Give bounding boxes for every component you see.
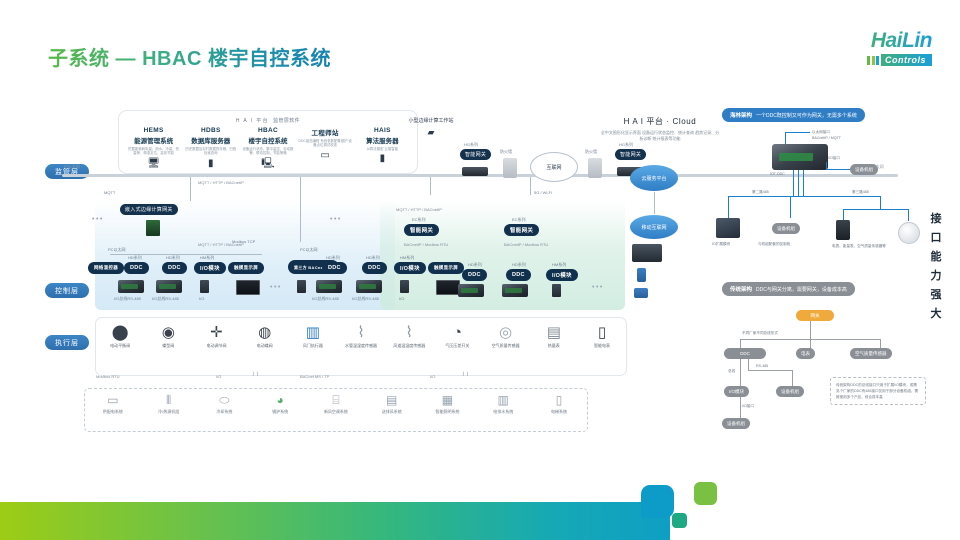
pipe-sensor-icon: ⌇ [337, 323, 385, 342]
hailin-device-label-0: IO扩展模块 [712, 242, 730, 247]
decor-square-green [694, 482, 717, 505]
diagram-canvas: 监管层 控制层 执行层 H A I 平台 监管层软件 HEMS 能源管理系统 挖… [0, 92, 960, 452]
server-icon: ▮ [184, 159, 238, 169]
execution-item[interactable]: ▯ 智能电表 [578, 323, 626, 349]
supervision-item[interactable]: HBAC 楼宇自控系统 设备运行状态、集中监控、自动报警、联动控制、节能策略 🖳 [241, 127, 295, 169]
hailin-io-port-label: I/O接口 [828, 156, 840, 161]
rs485-label-3: I/O总线RS-485 [312, 296, 339, 302]
execution-protocol-2: BACnet MS / TP [300, 374, 329, 379]
hailin-device-label-2: 电表、能量表、空气质量传感器等 [832, 244, 886, 249]
ddc-series-6: HD系列 [512, 262, 526, 268]
io-hardware-icon-1 [200, 280, 209, 293]
cloud-platform-title: H A I 平台 · Cloud 全中文图形化显示界面 设备运行状态监控、统计查… [600, 116, 720, 141]
connector [803, 170, 804, 197]
execution-item[interactable]: ⌇ 风道温湿度传感器 [385, 323, 433, 349]
hai-platform-label: H A I 平台 [236, 117, 269, 124]
system-item[interactable]: ▯ 电梯系统 [535, 393, 583, 415]
execution-protocol-0: Modbus RTU [96, 374, 120, 379]
hailin-device-label-1: 与机组配套的控制柜 [758, 242, 790, 247]
traditional-edge-label-0: 总线 [728, 369, 735, 374]
wireless-label: 5G / Wi-Fi [534, 190, 552, 195]
ddc-hardware-icon-4 [356, 280, 382, 293]
pc-bus-label-1: PC以太网 [108, 247, 126, 253]
brand-logo: HaiLin Controls [824, 30, 932, 72]
traditional-edge-label-2: I/O接口 [742, 404, 754, 409]
supervision-item[interactable]: HDBS 数据库服务器 历史数据及实时数据的存储、归档检索查询 ▮ [184, 127, 238, 169]
decor-square-teal [672, 513, 687, 528]
touch-display-pill-2[interactable]: 触摸显示屏 [428, 262, 464, 274]
ddc-series-5: HD系列 [468, 262, 482, 268]
lighting-icon: ▦ [423, 393, 471, 408]
ellipsis: ••• [92, 216, 104, 223]
ddc-hardware-icon-2 [156, 280, 182, 293]
supervision-item-desc: 设备运行状态、集中监控、自动报警、联动控制、节能策略 [241, 147, 295, 156]
execution-item-label: 电动蝶阀 [241, 343, 289, 349]
ddc-series-3: HD系列 [326, 255, 340, 261]
interface-capability-text: 接口能力强大 [928, 210, 944, 324]
protocol-label-ethernet-2: MQTT / HTTP / BACnetIP [396, 207, 442, 212]
hailin-tag-label: 海林架构 [730, 111, 752, 119]
control-icon: 🖳 [241, 159, 295, 169]
system-item[interactable]: ◕ 锅炉系统 [256, 393, 304, 415]
smart-gateway-chip-1[interactable]: 智能网关 [460, 149, 491, 160]
supervision-item-name: 楼宇自控系统 [241, 135, 295, 145]
ec-gateway-series-2: EC系列 [512, 217, 526, 223]
supervision-item-desc: 挖掘能耗耗电量、用水、冷量、热量等，精准定位，高效节能 [127, 147, 181, 156]
touch-display-pill-1[interactable]: 触摸显示屏 [228, 262, 264, 274]
tablet-device-icon [634, 288, 648, 298]
io-module-pill-3[interactable]: I/O模块 [546, 269, 578, 281]
system-item-label: 电梯系统 [535, 409, 583, 415]
traditional-node-meter[interactable]: 电表 [796, 348, 815, 359]
supervision-card-header: H A I 平台 监管层软件 [119, 115, 417, 126]
traditional-node-air-sensor[interactable]: 空气质量传感器 [850, 348, 892, 359]
laptop-device-icon [632, 244, 662, 262]
ec-smart-gateway-2[interactable]: 智能网关 [504, 224, 539, 236]
supervision-item-desc: DDC组态编程 系统参数配置维护 设备点位调试校准 [298, 139, 352, 148]
system-item[interactable]: ⬭ 冷却系统 [200, 393, 248, 415]
execution-item[interactable]: ⬤ 电动平衡阀 [96, 323, 144, 349]
gateway-series-label-2: HG系列 [619, 142, 633, 148]
ellipsis: ••• [592, 284, 604, 291]
io-module-pill-1[interactable]: I/O模块 [194, 262, 226, 274]
execution-item[interactable]: ◔ 气压压差开关 [433, 323, 481, 349]
hailin-top-proto-label: BACnetIP / MQTT [812, 136, 841, 140]
touch-display-icon-2 [436, 280, 460, 295]
hailin-architecture-tag: 海林架构 一个DDC既控制又可作为网关，无需多个系统 [722, 108, 865, 122]
connector [785, 132, 810, 133]
supervision-item-code: HBAC [241, 127, 295, 134]
decor-square-cyan [641, 485, 674, 518]
connector [880, 196, 881, 210]
firewall-icon-1 [503, 158, 517, 178]
execution-item[interactable]: ✛ 电动调节阀 [192, 323, 240, 349]
supervision-item-name: 能源管理系统 [127, 135, 181, 145]
connector [826, 169, 850, 170]
execution-item-label: 电动平衡阀 [96, 343, 144, 349]
cloud-platform-desc: 全中文图形化显示界面 设备运行状态监控、统计查询 趋势记录、分析诊断 统计报表等… [600, 130, 720, 141]
pressure-switch-icon: ◔ [433, 323, 481, 342]
footer-gradient-bar [0, 502, 670, 540]
system-item[interactable]: ⌸ 新风空调系统 [312, 393, 360, 415]
io-hardware-icon-2 [400, 280, 409, 293]
hailin-top-port-label: 以太网接口 [812, 130, 830, 135]
execution-item-label: 水管温湿度传感器 [337, 343, 385, 349]
system-item[interactable]: ⫴ 冷/热源机组 [145, 393, 193, 415]
page-title: 子系统 — HBAC 楼宇自控系统 [48, 42, 331, 71]
ddc-series-4: HD系列 [366, 255, 380, 261]
logo-subtext: Controls [881, 54, 932, 66]
hailin-equipment-node-top[interactable]: 设备机组 [850, 164, 878, 175]
execution-item-label: 空气质量传感器 [482, 343, 530, 349]
system-item[interactable]: ▦ 智能照明系统 [423, 393, 471, 415]
connector [430, 177, 431, 195]
rs485-label-2: I/O总线RS-485 [152, 296, 179, 302]
power-system-icon: ▭ [89, 393, 137, 408]
io-label-2: I/O [399, 296, 404, 301]
connector [790, 196, 791, 218]
ddc-series-2: HD系列 [166, 255, 180, 261]
io-module-icon[interactable] [716, 218, 740, 238]
traditional-root-note: 不同厂家不同总线形式 [742, 331, 778, 336]
execution-item[interactable]: ⌇ 水管温湿度传感器 [337, 323, 385, 349]
heat-meter-icon: ▤ [530, 323, 578, 342]
pc-bus-label-2: PC以太网 [300, 247, 318, 253]
mobile-internet-cloud: 移动互联网 [630, 215, 678, 239]
execution-item-label: 智能电表 [578, 343, 626, 349]
execution-item-label: 气压压差开关 [433, 343, 481, 349]
water-icon: ▥ [479, 393, 527, 408]
connector [908, 209, 909, 221]
connector [654, 192, 655, 214]
execution-layer-card: ⬤ 电动平衡阀 ◉ 蝶型阀 ✛ 电动调节阀 ◍ 电动蝶阀 ▥ 风门执行器 ⌇ 水… [95, 317, 627, 376]
connector [798, 170, 799, 197]
io-series-1: HM系列 [200, 255, 214, 261]
supervision-item-name: 数据库服务器 [184, 135, 238, 145]
hailin-tag-desc: 一个DDC既控制又可作为网关，无需多个系统 [756, 112, 857, 119]
connector [740, 359, 741, 387]
system-item-label: 送排风系统 [368, 409, 416, 415]
layer-badge-execution: 执行层 [45, 335, 89, 350]
traditional-edge-label-1: RS-485 [756, 364, 768, 368]
ellipsis: ≀≀ [462, 370, 470, 378]
desktop-icon: 🖥 [127, 159, 181, 169]
power-meter-icon: ▯ [578, 323, 626, 342]
execution-item[interactable]: ◍ 电动蝶阀 [241, 323, 289, 349]
io-series-2: HM系列 [400, 255, 414, 261]
ellipsis: ••• [330, 216, 342, 223]
ddc-pill-1[interactable]: DDC [124, 262, 149, 274]
cloud-service-platform[interactable]: 云服务平台 [630, 165, 678, 191]
system-item-label: 新风空调系统 [312, 409, 360, 415]
control-valve-icon: ✛ [192, 323, 240, 342]
actuator-icon: ▥ [289, 323, 337, 342]
supervision-card: H A I 平台 监管层软件 HEMS 能源管理系统 挖掘能耗耗电量、用水、冷量… [118, 110, 418, 174]
bus-label-left: IP以太网 [64, 164, 80, 170]
iot-ddc-unit[interactable] [772, 144, 828, 170]
valve-icon: ⬤ [96, 323, 144, 342]
protocol-label-field-2: BACnetIP / Modbus RTU [504, 242, 548, 247]
connector [530, 177, 531, 195]
phone-device-icon [637, 268, 646, 282]
execution-item-label: 风门执行器 [289, 343, 337, 349]
touch-display-icon-1 [236, 280, 260, 295]
systems-card: ▭ 供配电系统 ⫴ 冷/热源机组 ⬭ 冷却系统 ◕ 锅炉系统 ⌸ 新风空调系统 … [84, 388, 588, 432]
ddc-pill-3[interactable]: DDC [322, 262, 347, 274]
execution-item[interactable]: ▤ 热量表 [530, 323, 578, 349]
connector [792, 370, 793, 387]
supervision-item[interactable]: 工程师站 DDC组态编程 系统参数配置维护 设备点位调试校准 ▭ [298, 127, 352, 169]
hailin-bus-right-label: 第三路485 [852, 190, 869, 195]
execution-item-label: 风道温湿度传感器 [385, 343, 433, 349]
internet-cloud: 互联网 [530, 152, 578, 182]
rs485-label-4: I/O总线RS-485 [352, 296, 379, 302]
third-party-hardware-icon [297, 280, 306, 293]
connector [728, 196, 880, 197]
damper-valve-icon: ◍ [241, 323, 289, 342]
ddc-series-1: HD系列 [128, 255, 142, 261]
chiller-icon: ⫴ [145, 393, 193, 408]
io-label-1: I/O [199, 296, 204, 301]
logo-bars-icon [867, 56, 879, 65]
execution-protocol-1: I/O [216, 374, 221, 379]
boiler-icon: ◕ [256, 393, 304, 408]
ddc-hardware-icon-6 [502, 284, 528, 297]
traditional-tag-desc: DDC与网关分离，需要网关，设备成本高 [756, 286, 847, 293]
server-icon: ▮ [355, 154, 409, 164]
ddc-hardware-icon-3 [316, 280, 342, 293]
traditional-architecture-tag: 传统架构 DDC与网关分离，需要网关，设备成本高 [722, 282, 855, 296]
system-item[interactable]: ▤ 送排风系统 [368, 393, 416, 415]
firewall-icon-2 [588, 158, 602, 178]
ddc-hardware-icon-1 [118, 280, 144, 293]
system-item[interactable]: ▭ 供配电系统 [89, 393, 137, 415]
fan-icon: ▤ [368, 393, 416, 408]
sensor-icon[interactable] [898, 222, 920, 244]
connector [748, 370, 792, 371]
ec-gateway-series-1: EC系列 [412, 217, 426, 223]
io-hardware-icon-3 [552, 284, 561, 297]
mqtt-label: MQTT [104, 190, 115, 195]
connector [190, 177, 191, 201]
system-item-label: 锅炉系统 [256, 409, 304, 415]
protocol-label-field-1: BACnetIP / Modbus RTU [404, 242, 448, 247]
embedded-edge-gateway-chip[interactable]: 嵌入式边缘计算网关 [120, 204, 178, 215]
ellipsis: ••• [270, 284, 282, 291]
edge-workstation[interactable]: 小型边缘计算工作站 ▰ [400, 118, 462, 138]
connector [300, 177, 301, 242]
ec-smart-gateway-1[interactable]: 智能网关 [404, 224, 439, 236]
system-item-label: 冷/热源机组 [145, 409, 193, 415]
traditional-note: 传统架构DDC的总线接口只用于扩展I/O模块，或需另个厂家的DDC有485接口仅… [830, 377, 926, 405]
io-series-3: HM系列 [552, 262, 566, 268]
execution-item[interactable]: ◎ 空气质量传感器 [482, 323, 530, 349]
connector [740, 397, 741, 419]
supervision-item[interactable]: HEMS 能源管理系统 挖掘能耗耗电量、用水、冷量、热量等，精准定位，高效节能 … [127, 127, 181, 169]
system-item-label: 冷却系统 [200, 409, 248, 415]
supervision-software-label: 监管层软件 [273, 117, 300, 124]
gateway-hardware-icon [462, 167, 488, 176]
layer-badge-control: 控制层 [45, 283, 89, 298]
io-module-pill-2[interactable]: I/O模块 [394, 262, 426, 274]
system-item-label: 给排水系统 [479, 409, 527, 415]
ahu-icon: ⌸ [312, 393, 360, 408]
logo-wordmark: HaiLin [824, 30, 932, 52]
edge-gateway-hardware-icon [146, 220, 160, 236]
traditional-tag-label: 传统架构 [730, 285, 752, 293]
supervision-item-desc: AI算法模型 云端智能 [355, 147, 409, 151]
gateway-series-label: HG系列 [464, 142, 478, 148]
smart-gateway-chip-2[interactable]: 智能网关 [615, 149, 646, 160]
air-quality-icon: ◎ [482, 323, 530, 342]
traditional-gateway-node[interactable]: 网关 [796, 310, 834, 321]
network-thermostat-pill[interactable]: 网络温控器 [88, 262, 124, 274]
connector [728, 196, 729, 218]
cloud-platform-name: H A I 平台 · Cloud [600, 116, 720, 127]
hailin-bus-left-label: 第二路485 [752, 190, 769, 195]
system-item[interactable]: ▥ 给排水系统 [479, 393, 527, 415]
ddc-pill-5[interactable]: DDC [462, 269, 487, 281]
execution-item-label: 电动调节阀 [192, 343, 240, 349]
rs485-label-1: I/O总线RS-485 [114, 296, 141, 302]
supervision-item-code: 工程师站 [298, 127, 352, 137]
firewall-label-1: 防火墙 [500, 149, 512, 155]
execution-item-label: 热量表 [530, 343, 578, 349]
traditional-node-ddc[interactable]: DDC [724, 348, 766, 359]
workstation-icon: ▰ [400, 127, 462, 138]
duct-sensor-icon: ⌇ [385, 323, 433, 342]
protocol-label-ethernet: MQTT / HTTP / BACnetIP [198, 180, 244, 185]
execution-item-label: 蝶型阀 [144, 343, 192, 349]
ddc-hardware-icon-5 [458, 284, 484, 297]
hailin-equipment-node-mid[interactable]: 设备机组 [772, 223, 800, 234]
ddc-pill-2[interactable]: DDC [162, 262, 187, 274]
traditional-node-equipment-1[interactable]: 设备机组 [776, 386, 804, 397]
firewall-label-2: 防火墙 [585, 149, 597, 155]
connector [793, 170, 794, 197]
elevator-icon: ▯ [535, 393, 583, 408]
traditional-node-equipment-2[interactable]: 设备机组 [722, 418, 750, 429]
traditional-node-io-module[interactable]: I/O模块 [724, 386, 749, 397]
cooling-icon: ⬭ [200, 393, 248, 408]
butterfly-valve-icon: ◉ [144, 323, 192, 342]
supervision-item-code: HEMS [127, 127, 181, 134]
system-item-label: 供配电系统 [89, 409, 137, 415]
ddc-pill-6[interactable]: DDC [506, 269, 531, 281]
meter-icon[interactable] [836, 220, 850, 240]
system-item-label: 智能照明系统 [423, 409, 471, 415]
execution-item[interactable]: ◉ 蝶型阀 [144, 323, 192, 349]
supervision-item-code: HDBS [184, 127, 238, 134]
ellipsis: ≀≀ [252, 370, 260, 378]
modbus-label: Modbus TCP [232, 239, 255, 244]
ddc-pill-4[interactable]: DDC [362, 262, 387, 274]
edge-workstation-label: 小型边缘计算工作站 [400, 118, 462, 125]
execution-protocol-3: I/O [430, 374, 435, 379]
execution-item[interactable]: ▥ 风门执行器 [289, 323, 337, 349]
laptop-icon: ▭ [298, 151, 352, 161]
supervision-item-desc: 历史数据及实时数据的存储、归档检索查询 [184, 147, 238, 156]
connector [843, 209, 909, 210]
iot-ddc-label: IOT-DDC [770, 172, 785, 176]
connector [810, 321, 811, 339]
